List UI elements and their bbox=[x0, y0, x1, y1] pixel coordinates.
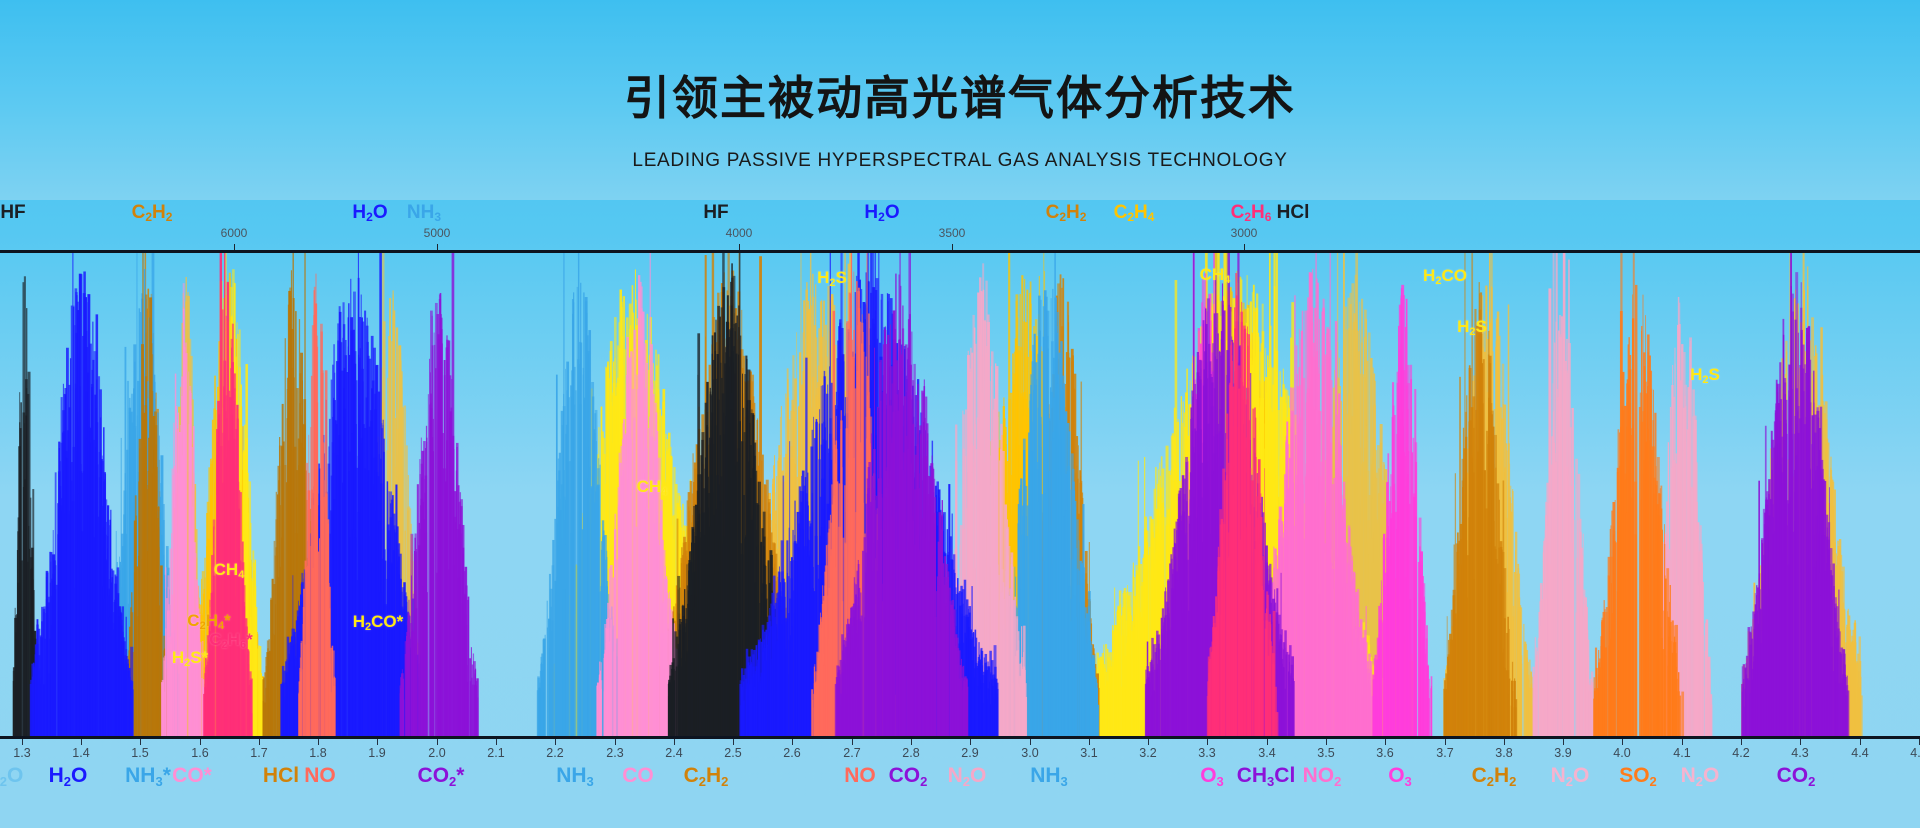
bottom-tick-3.6: 3.6 bbox=[1376, 746, 1393, 760]
bottom-gas-label-n2o: N2O bbox=[0, 764, 23, 789]
bottom-tick-mark bbox=[1741, 739, 1742, 745]
bottom-tick-1.6: 1.6 bbox=[191, 746, 208, 760]
bottom-tick-mark bbox=[1563, 739, 1564, 745]
plot-gas-label-ch4: CH4 bbox=[214, 560, 245, 581]
bottom-tick-2.4: 2.4 bbox=[665, 746, 682, 760]
bottom-tick-3.1: 3.1 bbox=[1080, 746, 1097, 760]
bottom-tick-mark bbox=[1030, 739, 1031, 745]
bottom-tick-4.3: 4.3 bbox=[1791, 746, 1808, 760]
plot-gas-label-c2h4: C2H4* bbox=[187, 611, 230, 632]
bottom-tick-3.9: 3.9 bbox=[1554, 746, 1571, 760]
top-gas-label-nh3: NH3 bbox=[407, 202, 441, 224]
bottom-gas-label-hcl: HCl bbox=[263, 764, 299, 788]
bottom-gas-label-co: CO* bbox=[172, 764, 212, 788]
bottom-tick-3.2: 3.2 bbox=[1139, 746, 1156, 760]
bottom-tick-mark bbox=[1207, 739, 1208, 745]
top-gas-label-c2h4: C2H4 bbox=[1114, 202, 1155, 224]
top-tick-3500: 3500 bbox=[939, 226, 966, 240]
bottom-tick-3.5: 3.5 bbox=[1317, 746, 1334, 760]
bottom-tick-mark bbox=[1860, 739, 1861, 745]
bottom-gas-label-no: NO bbox=[304, 764, 336, 788]
top-axis-ticks: 60005000400035003000 bbox=[0, 226, 1920, 252]
bottom-gas-label-c2h2: C2H2 bbox=[1472, 764, 1517, 789]
bottom-tick-3.8: 3.8 bbox=[1495, 746, 1512, 760]
bottom-tick-1.4: 1.4 bbox=[72, 746, 89, 760]
plot-gas-label-h2s: H2S bbox=[817, 268, 847, 289]
bottom-gas-label-n2o: N2O bbox=[948, 764, 987, 789]
bottom-tick-mark bbox=[200, 739, 201, 745]
top-gas-label-c2h2: C2H2 bbox=[1046, 202, 1087, 224]
bottom-tick-3.3: 3.3 bbox=[1198, 746, 1215, 760]
top-gas-label-hf: HF bbox=[703, 202, 728, 224]
bottom-tick-2.7: 2.7 bbox=[843, 746, 860, 760]
bottom-tick-mark bbox=[1326, 739, 1327, 745]
bottom-gas-label-row: N2OH2ONH3*CO*HClNOCO2*NH3COC2H2NOCO2N2ON… bbox=[0, 764, 1920, 804]
bottom-tick-2.0: 2.0 bbox=[428, 746, 445, 760]
bottom-gas-label-c2h2: C2H2 bbox=[684, 764, 729, 789]
bottom-tick-mark bbox=[1445, 739, 1446, 745]
bottom-tick-mark bbox=[140, 739, 141, 745]
bottom-tick-1.9: 1.9 bbox=[368, 746, 385, 760]
plot-gas-label-ch4: CH4 bbox=[1200, 265, 1231, 286]
bottom-tick-4.2: 4.2 bbox=[1732, 746, 1749, 760]
top-tick-3000: 3000 bbox=[1231, 226, 1258, 240]
top-tick-6000: 6000 bbox=[221, 226, 248, 240]
bottom-gas-label-co2: CO2 bbox=[1777, 764, 1816, 789]
bottom-gas-label-nh3: NH3 bbox=[556, 764, 594, 789]
bottom-tick-mark bbox=[792, 739, 793, 745]
page-footer bbox=[0, 804, 1920, 828]
bottom-tick-mark bbox=[1385, 739, 1386, 745]
bottom-tick-mark bbox=[1089, 739, 1090, 745]
plot-gas-label-h2s: H2S bbox=[1690, 365, 1720, 386]
bottom-tick-3.0: 3.0 bbox=[1021, 746, 1038, 760]
bottom-tick-4.4: 4.4 bbox=[1851, 746, 1868, 760]
bottom-tick-mark bbox=[1267, 739, 1268, 745]
top-gas-label-h2o: H2O bbox=[352, 202, 387, 224]
bottom-tick-mark bbox=[318, 739, 319, 745]
bottom-gas-label-ch3cl: CH3Cl bbox=[1237, 764, 1296, 789]
bottom-gas-label-o3: O3 bbox=[1388, 764, 1412, 789]
bottom-tick-2.2: 2.2 bbox=[546, 746, 563, 760]
spectrum-plot: CH4C2H4*C2H6*H2S*H2CO*CH4H2SCH4H2COH2SH2… bbox=[0, 253, 1920, 736]
bottom-tick-mark bbox=[852, 739, 853, 745]
bottom-tick-2.1: 2.1 bbox=[487, 746, 504, 760]
page-header: 引领主被动高光谱气体分析技术 LEADING PASSIVE HYPERSPEC… bbox=[0, 0, 1920, 200]
plot-gas-label-h2s: H2S* bbox=[172, 648, 208, 669]
bottom-tick-2.8: 2.8 bbox=[902, 746, 919, 760]
bottom-tick-mark bbox=[1682, 739, 1683, 745]
bottom-tick-mark bbox=[437, 739, 438, 745]
bottom-gas-label-h2o: H2O bbox=[49, 764, 88, 789]
plot-gas-label-h2s: H2S bbox=[1457, 317, 1487, 338]
bottom-gas-label-co2: CO2* bbox=[418, 764, 465, 789]
bottom-tick-mark bbox=[81, 739, 82, 745]
top-tick-4000: 4000 bbox=[726, 226, 753, 240]
bottom-tick-2.9: 2.9 bbox=[961, 746, 978, 760]
plot-gas-label-ch4: CH4 bbox=[637, 477, 668, 498]
page-subtitle: LEADING PASSIVE HYPERSPECTRAL GAS ANALYS… bbox=[0, 150, 1920, 172]
bottom-gas-label-so2: SO2 bbox=[1619, 764, 1657, 789]
bottom-tick-mark bbox=[377, 739, 378, 745]
top-gas-label-c2h2: C2H2 bbox=[132, 202, 173, 224]
bottom-gas-label-no2: NO2 bbox=[1303, 764, 1342, 789]
bottom-tick-1.5: 1.5 bbox=[131, 746, 148, 760]
bottom-tick-mark bbox=[1148, 739, 1149, 745]
bottom-gas-label-n2o: N2O bbox=[1551, 764, 1590, 789]
bottom-tick-4.0: 4.0 bbox=[1613, 746, 1630, 760]
bottom-tick-1.8: 1.8 bbox=[309, 746, 326, 760]
bottom-tick-mark bbox=[259, 739, 260, 745]
top-gas-label-hf: HF bbox=[0, 202, 25, 224]
bottom-tick-1.7: 1.7 bbox=[250, 746, 267, 760]
top-gas-label-hcl: HCl bbox=[1277, 202, 1310, 224]
bottom-tick-mark bbox=[911, 739, 912, 745]
bottom-tick-mark bbox=[555, 739, 556, 745]
bottom-tick-2.6: 2.6 bbox=[783, 746, 800, 760]
plot-gas-label-h2co: H2CO* bbox=[353, 612, 404, 633]
bottom-gas-label-co2: CO2 bbox=[889, 764, 928, 789]
bottom-tick-mark bbox=[615, 739, 616, 745]
bottom-tick-mark bbox=[674, 739, 675, 745]
bottom-tick-2.5: 2.5 bbox=[724, 746, 741, 760]
bottom-tick-mark bbox=[1504, 739, 1505, 745]
bottom-tick-mark bbox=[496, 739, 497, 745]
bottom-gas-label-nh3: NH3* bbox=[125, 764, 171, 789]
bottom-gas-label-n2o: N2O bbox=[1681, 764, 1720, 789]
bottom-tick-3.4: 3.4 bbox=[1258, 746, 1275, 760]
plot-gas-label-c2h6: C2H6* bbox=[209, 630, 252, 651]
bottom-tick-2.3: 2.3 bbox=[606, 746, 623, 760]
top-gas-label-h2o: H2O bbox=[864, 202, 899, 224]
page-title: 引领主被动高光谱气体分析技术 bbox=[0, 62, 1920, 128]
bottom-tick-mark bbox=[733, 739, 734, 745]
bottom-tick-4.5: 4.5 bbox=[1910, 746, 1920, 760]
bottom-gas-label-no: NO bbox=[844, 764, 876, 788]
bottom-gas-label-co: CO bbox=[622, 764, 654, 788]
bottom-tick-mark bbox=[22, 739, 23, 745]
top-tick-5000: 5000 bbox=[424, 226, 451, 240]
bottom-axis-ticks: 1.31.41.51.61.71.81.92.02.12.22.32.42.52… bbox=[0, 739, 1920, 765]
spectrum-svg bbox=[0, 253, 1920, 736]
plot-gas-label-h2co: H2CO bbox=[1423, 266, 1467, 287]
top-gas-label-c2h6: C2H6 bbox=[1231, 202, 1272, 224]
bottom-gas-label-o3: O3 bbox=[1200, 764, 1224, 789]
bottom-tick-4.1: 4.1 bbox=[1673, 746, 1690, 760]
bottom-tick-mark bbox=[970, 739, 971, 745]
bottom-tick-mark bbox=[1622, 739, 1623, 745]
bottom-gas-label-nh3: NH3 bbox=[1030, 764, 1068, 789]
bottom-tick-1.3: 1.3 bbox=[13, 746, 30, 760]
bottom-tick-3.7: 3.7 bbox=[1436, 746, 1453, 760]
bottom-tick-mark bbox=[1800, 739, 1801, 745]
